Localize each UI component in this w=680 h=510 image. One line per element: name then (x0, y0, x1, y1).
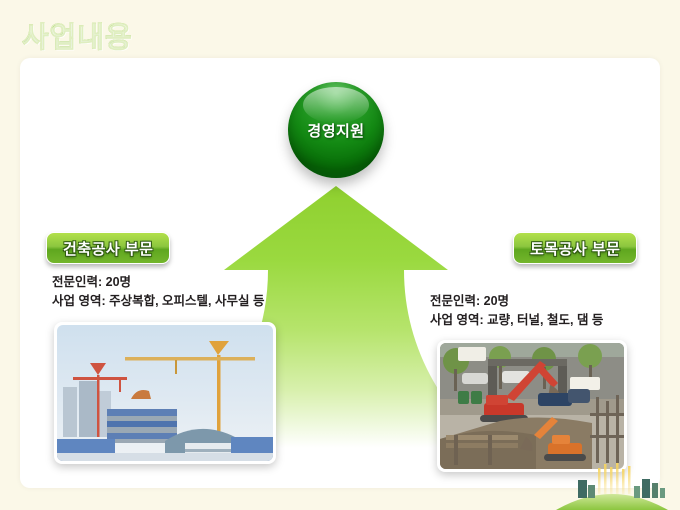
page-title: 사업내용 (22, 14, 133, 56)
photo-civil-engineering-site-image (440, 343, 624, 469)
description-civil-engineering-division: 전문인력: 20명 사업 영역: 교량, 터널, 철도, 댐 등 (430, 292, 603, 330)
scope-line: 사업 영역: 교량, 터널, 철도, 댐 등 (430, 311, 603, 330)
description-architecture-division: 전문인력: 20명 사업 영역: 주상복합, 오피스텔, 사무실 등 (52, 273, 264, 311)
photo-architecture-site (54, 322, 276, 464)
hub-node-management-support[interactable]: 경영지원 (288, 82, 384, 178)
hub-node-label: 경영지원 (307, 120, 364, 141)
photo-civil-engineering-site (437, 340, 627, 472)
staff-line: 전문인력: 20명 (52, 273, 264, 292)
badge-civil-engineering-division[interactable]: 토목공사 부문 (513, 232, 637, 264)
badge-label: 건축공사 부문 (63, 238, 153, 259)
badge-architecture-division[interactable]: 건축공사 부문 (46, 232, 170, 264)
photo-architecture-site-image (57, 325, 273, 461)
staff-line: 전문인력: 20명 (430, 292, 603, 311)
badge-label: 토목공사 부문 (530, 238, 620, 259)
scope-line: 사업 영역: 주상복합, 오피스텔, 사무실 등 (52, 292, 264, 311)
